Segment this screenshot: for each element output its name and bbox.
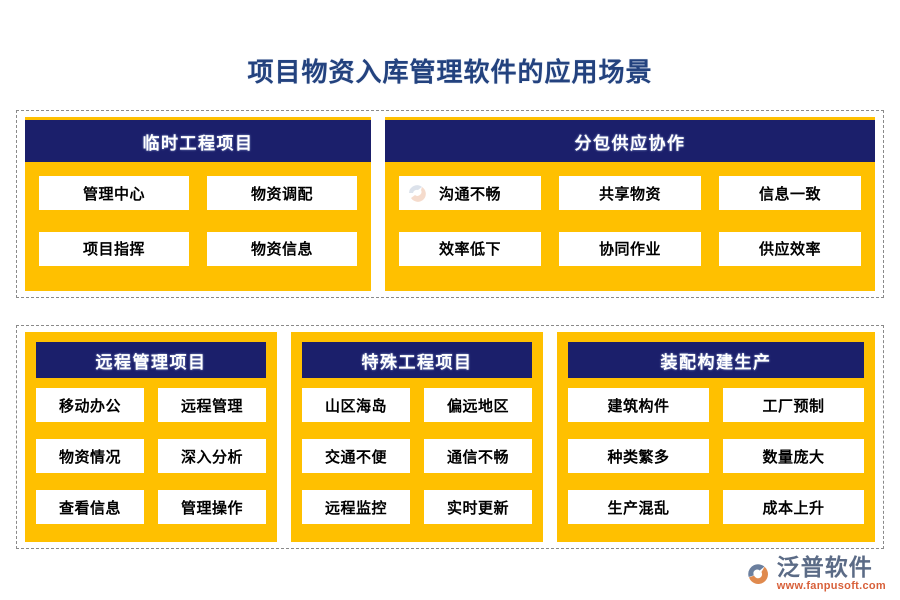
company-logo-icon [743,559,773,589]
cell-label: 沟通不畅 [439,183,501,204]
cell-item[interactable]: 信息一致 [719,176,861,210]
cell-item[interactable]: 效率低下 [399,232,541,266]
panel-header-remote-management: 远程管理项目 [36,342,266,378]
footer-logo: 泛普软件 www.fanpusoft.com [743,556,886,592]
panel-header-subcontract-supply: 分包供应协作 [385,120,875,162]
cell-item[interactable]: 协同作业 [559,232,701,266]
cell-item[interactable]: 远程管理 [158,388,266,422]
cell-grid-prefab-production: 建筑构件 工厂预制 种类繁多 数量庞大 生产混乱 成本上升 [568,388,864,530]
panel-special-engineering: 特殊工程项目 山区海岛 偏远地区 交通不便 通信不畅 远程监控 实时更新 [291,332,543,542]
cell-item[interactable]: 物资情况 [36,439,144,473]
panel-header-temporary-engineering: 临时工程项目 [25,120,371,162]
cell-grid-subcontract-supply: 沟通不畅 共享物资 信息一致 效率低下 协同作业 供应效率 [385,162,875,291]
cell-item[interactable]: 数量庞大 [723,439,864,473]
cell-item[interactable]: 工厂预制 [723,388,864,422]
bottom-group-container: 远程管理项目 移动办公 远程管理 物资情况 深入分析 查看信息 管理操作 特殊工… [16,325,884,549]
panel-prefab-production: 装配构建生产 建筑构件 工厂预制 种类繁多 数量庞大 生产混乱 成本上升 [557,332,875,542]
cell-item[interactable]: 通信不畅 [424,439,532,473]
logo-text-wrap: 泛普软件 www.fanpusoft.com [777,556,886,592]
cell-item[interactable]: 种类繁多 [568,439,709,473]
cell-item[interactable]: 成本上升 [723,490,864,524]
page-title: 项目物资入库管理软件的应用场景 [0,52,900,89]
cell-item[interactable]: 管理操作 [158,490,266,524]
cell-item[interactable]: 偏远地区 [424,388,532,422]
cell-item[interactable]: 交通不便 [302,439,410,473]
cell-item[interactable]: 管理中心 [39,176,189,210]
logo-company-name: 泛普软件 [777,556,873,579]
cell-item[interactable]: 生产混乱 [568,490,709,524]
cell-grid-remote-management: 移动办公 远程管理 物资情况 深入分析 查看信息 管理操作 [36,388,266,530]
cell-item[interactable]: 实时更新 [424,490,532,524]
cell-item[interactable]: 深入分析 [158,439,266,473]
cell-item[interactable]: 物资信息 [207,232,357,266]
cell-item[interactable]: 物资调配 [207,176,357,210]
cell-item[interactable]: 项目指挥 [39,232,189,266]
cell-grid-special-engineering: 山区海岛 偏远地区 交通不便 通信不畅 远程监控 实时更新 [302,388,532,530]
panel-header-prefab-production: 装配构建生产 [568,342,864,378]
cell-item[interactable]: 山区海岛 [302,388,410,422]
top-group-container: 临时工程项目 管理中心 物资调配 项目指挥 物资信息 分包供应协作 沟通不畅 共… [16,110,884,298]
cell-item[interactable]: 远程监控 [302,490,410,524]
panel-remote-management: 远程管理项目 移动办公 远程管理 物资情况 深入分析 查看信息 管理操作 [25,332,277,542]
cell-item[interactable]: 查看信息 [36,490,144,524]
cell-item[interactable]: 沟通不畅 [399,176,541,210]
logo-website-url: www.fanpusoft.com [777,581,886,592]
cell-item[interactable]: 共享物资 [559,176,701,210]
panel-header-special-engineering: 特殊工程项目 [302,342,532,378]
cell-item[interactable]: 供应效率 [719,232,861,266]
panel-subcontract-supply: 分包供应协作 沟通不畅 共享物资 信息一致 效率低下 协同作业 供应效率 [385,117,875,291]
cell-grid-temporary-engineering: 管理中心 物资调配 项目指挥 物资信息 [25,162,371,291]
cell-item[interactable]: 建筑构件 [568,388,709,422]
cell-item[interactable]: 移动办公 [36,388,144,422]
panel-temporary-engineering: 临时工程项目 管理中心 物资调配 项目指挥 物资信息 [25,117,371,291]
